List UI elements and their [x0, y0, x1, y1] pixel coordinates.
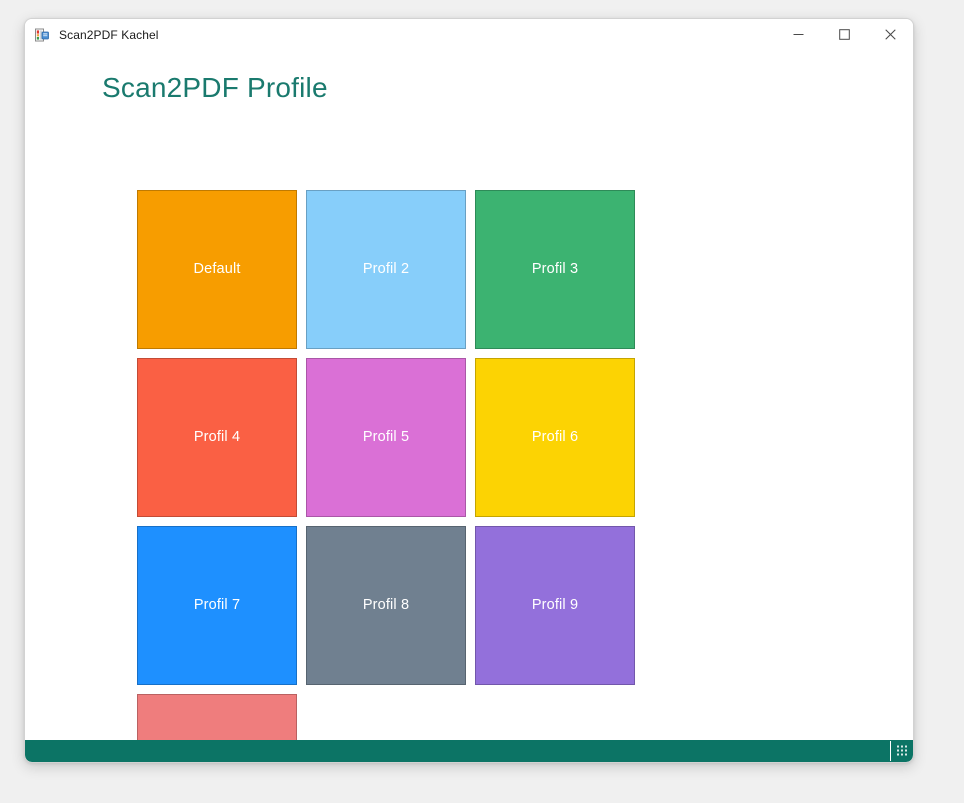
grip-dot — [905, 746, 907, 748]
client-area: Scan2PDF Profile DefaultProfil 2Profil 3… — [25, 50, 913, 740]
profile-tile[interactable]: Default — [137, 190, 297, 349]
profile-tile-label: Profil 3 — [526, 261, 584, 278]
profile-tile-grid: DefaultProfil 2Profil 3Profil 4Profil 5P… — [137, 190, 803, 740]
resize-grip-icon[interactable] — [897, 746, 908, 757]
grip-dot — [901, 750, 903, 752]
status-bar-separator — [890, 741, 891, 761]
application-window: Scan2PDF Kachel — [24, 18, 914, 763]
profile-tile[interactable]: Profil 8 — [306, 526, 466, 685]
page-title: Scan2PDF Profile — [102, 73, 328, 104]
grip-dot — [897, 746, 899, 748]
minimize-button[interactable] — [775, 19, 821, 50]
profile-tile[interactable]: Profil 9 — [475, 526, 635, 685]
profile-tile-label: Profil 8 — [357, 597, 415, 614]
profile-tile-label: Profil 9 — [526, 597, 584, 614]
close-icon — [885, 29, 896, 40]
profile-tile-label: Profil 7 — [188, 597, 246, 614]
profile-tile[interactable]: Profil 3 — [475, 190, 635, 349]
app-document-icon — [34, 27, 50, 43]
profile-tile[interactable]: Profil Epson — [137, 694, 297, 740]
grip-dot — [897, 750, 899, 752]
maximize-button[interactable] — [821, 19, 867, 50]
close-button[interactable] — [867, 19, 913, 50]
window-title: Scan2PDF Kachel — [59, 28, 159, 42]
grip-dot — [905, 750, 907, 752]
window-controls — [775, 19, 913, 50]
profile-tile-label: Profil 5 — [357, 429, 415, 446]
profile-tile[interactable]: Profil 7 — [137, 526, 297, 685]
profile-tile[interactable]: Profil 6 — [475, 358, 635, 517]
profile-tile-label: Profil 4 — [188, 429, 246, 446]
grip-dot — [905, 754, 907, 756]
profile-tile[interactable]: Profil 5 — [306, 358, 466, 517]
grip-dot — [901, 754, 903, 756]
profile-tile-label: Default — [188, 261, 247, 278]
profile-tile[interactable]: Profil 2 — [306, 190, 466, 349]
profile-tile[interactable]: Profil 4 — [137, 358, 297, 517]
maximize-icon — [839, 29, 850, 40]
grip-dot — [897, 754, 899, 756]
profile-tile-label: Profil 6 — [526, 429, 584, 446]
grip-dot — [901, 746, 903, 748]
title-bar[interactable]: Scan2PDF Kachel — [25, 19, 913, 50]
desktop-background: Scan2PDF Kachel — [0, 0, 964, 803]
profile-tile-label: Profil 2 — [357, 261, 415, 278]
status-bar — [25, 740, 913, 762]
minimize-icon — [793, 29, 804, 40]
